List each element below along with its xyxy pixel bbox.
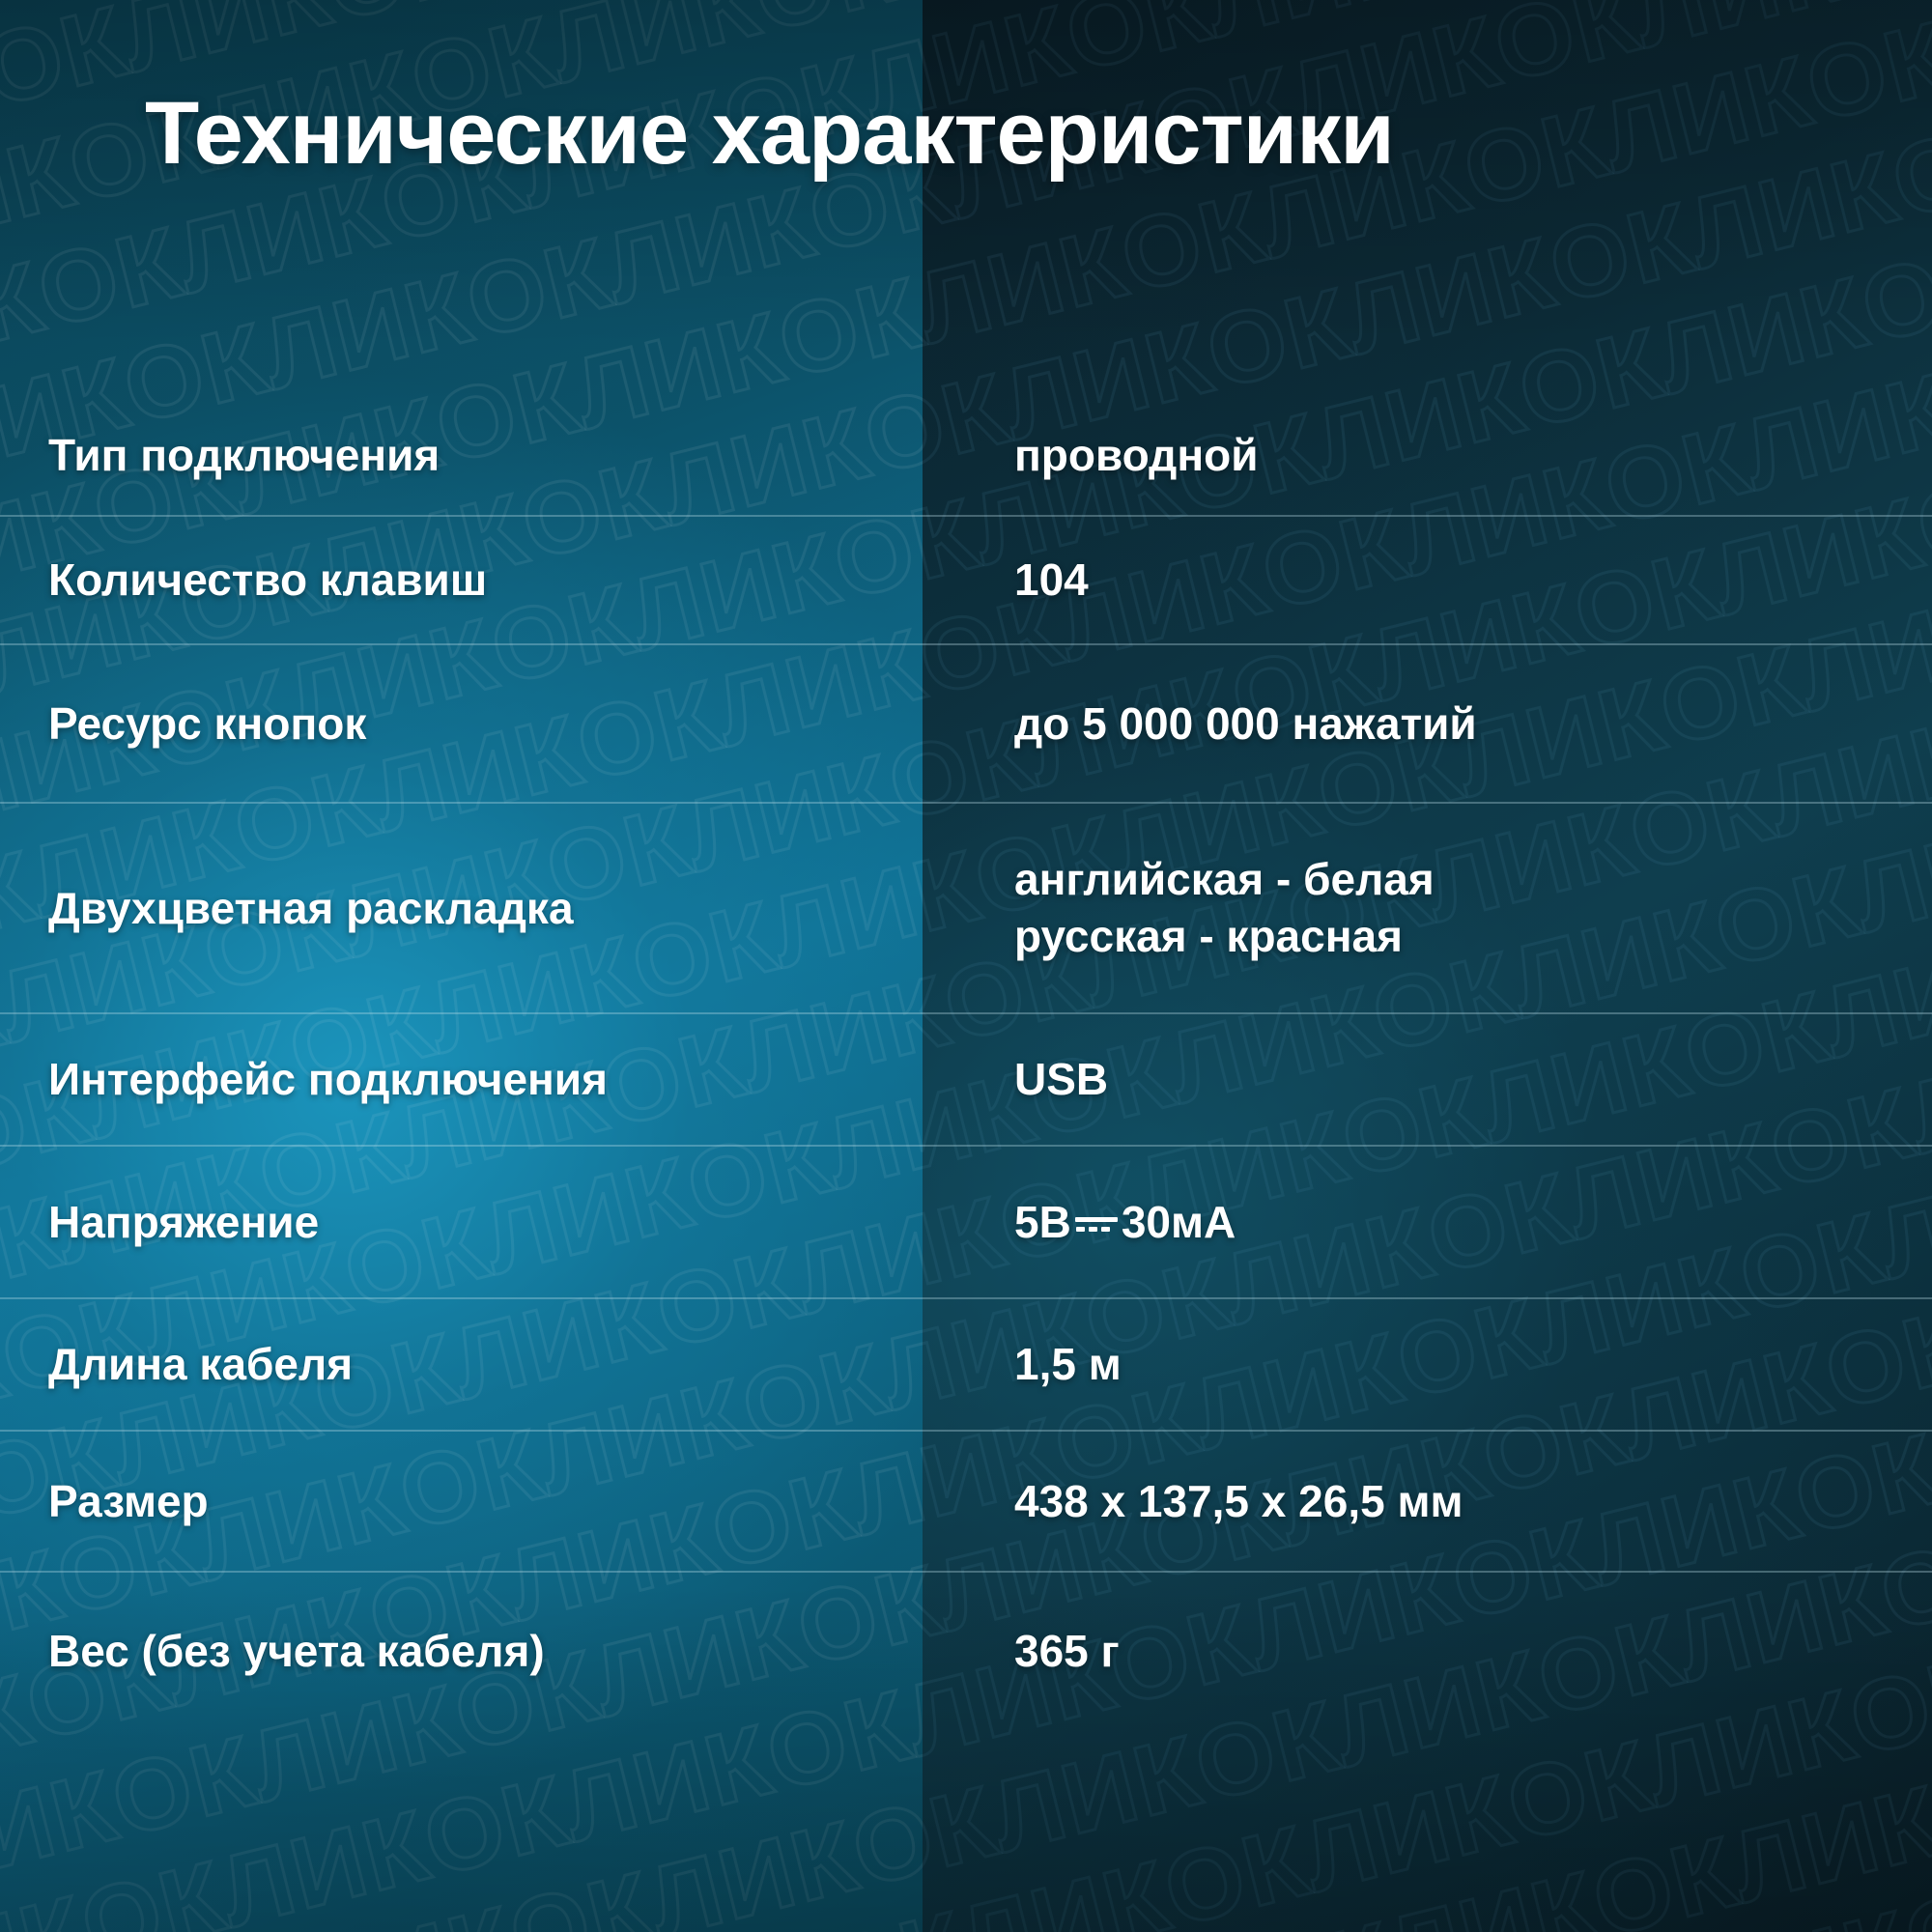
spec-value: 438 х 137,5 х 26,5 мм [995,1473,1932,1530]
spec-value: до 5 000 000 нажатий [995,696,1932,753]
table-row: Длина кабеля1,5 м [0,1299,1932,1432]
spec-label: Количество клавиш [0,554,995,606]
table-row: Тип подключенияпроводной [0,396,1932,517]
table-row: Интерфейс подключенияUSB [0,1014,1932,1147]
dc-current-icon [1075,1207,1118,1239]
table-row: Двухцветная раскладкаанглийская - белая … [0,804,1932,1014]
table-row: Напряжение5В30мА [0,1147,1932,1299]
page-title: Технические характеристики [145,83,1394,185]
table-row: Количество клавиш104 [0,517,1932,645]
spec-label: Размер [0,1476,995,1527]
table-row: Вес (без учета кабеля)365 г [0,1573,1932,1729]
spec-value: 365 г [995,1623,1932,1680]
specifications-table: Тип подключенияпроводнойКоличество клави… [0,396,1932,1729]
spec-label: Напряжение [0,1197,995,1248]
spec-value: USB [995,1051,1932,1108]
spec-value: 104 [995,552,1932,609]
spec-sheet-canvas: КЛИКОКЛИКОКЛИКОКЛИКОКЛИКОКЛИКОКЛИКОКЛИКО… [0,0,1932,1932]
spec-label: Вес (без учета кабеля) [0,1626,995,1677]
spec-value-prefix: 5В [1014,1197,1071,1247]
spec-value: проводной [995,427,1932,484]
table-row: Ресурс кнопокдо 5 000 000 нажатий [0,645,1932,804]
spec-value: 1,5 м [995,1336,1932,1393]
spec-value: 5В30мА [995,1194,1932,1251]
spec-label: Тип подключения [0,430,995,481]
spec-value: английская - белая русская - красная [995,851,1932,965]
spec-label: Двухцветная раскладка [0,883,995,934]
spec-label: Интерфейс подключения [0,1054,995,1105]
spec-value-suffix: 30мА [1122,1197,1236,1247]
spec-label: Ресурс кнопок [0,698,995,750]
table-row: Размер438 х 137,5 х 26,5 мм [0,1432,1932,1573]
spec-label: Длина кабеля [0,1339,995,1390]
